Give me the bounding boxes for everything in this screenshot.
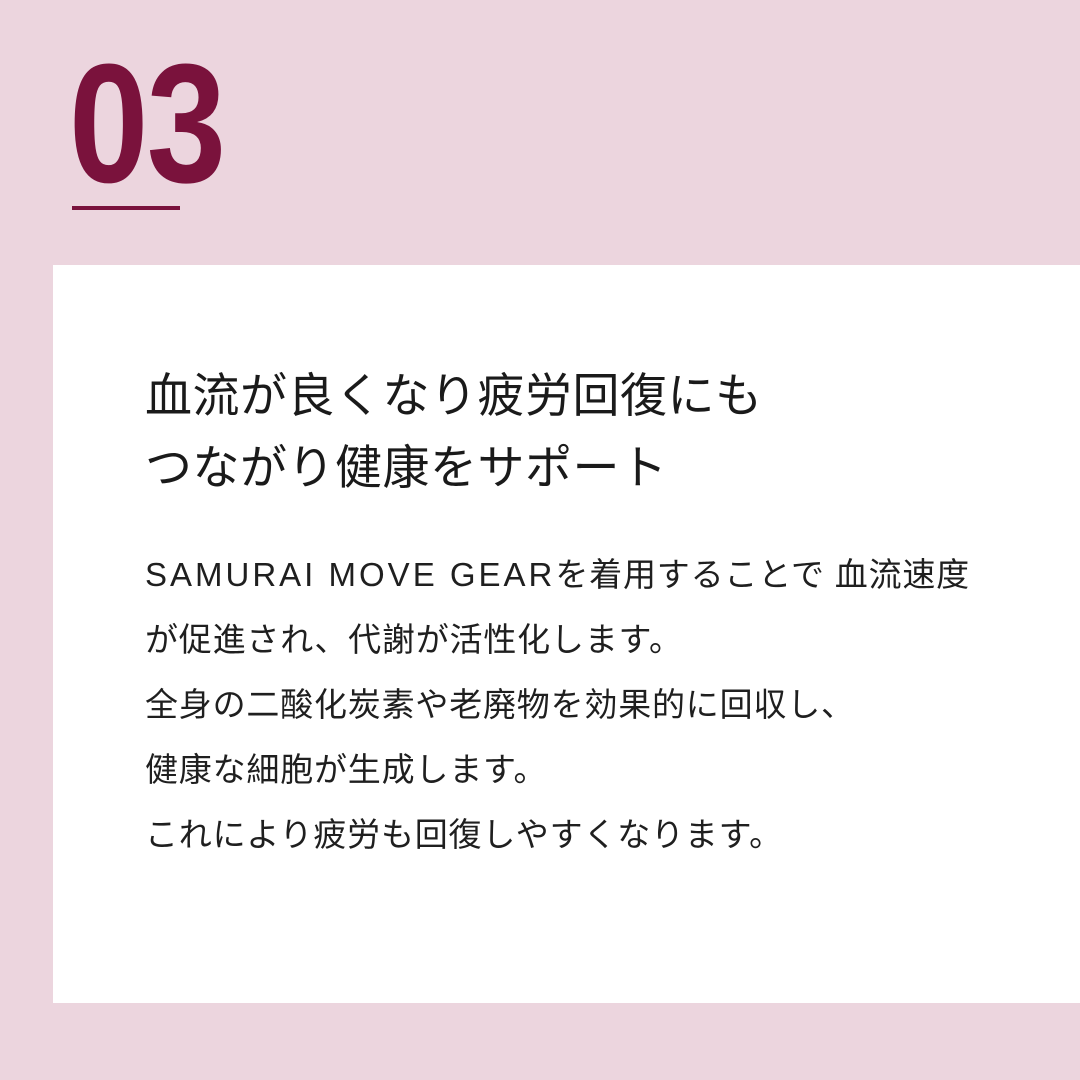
card-heading-line-1: 血流が良くなり疲労回復にも xyxy=(145,360,763,432)
card-body-line-1-rest: を着用することで 血流速度 xyxy=(555,556,970,593)
card-body-line-2: が促進され、代謝が活性化します。 xyxy=(145,607,970,672)
card-body-line-4: 健康な細胞が生成します。 xyxy=(145,737,970,802)
card-heading: 血流が良くなり疲労回復にも つながり健康をサポート xyxy=(145,360,763,504)
card-body-line-3: 全身の二酸化炭素や老廃物を効果的に回収し、 xyxy=(145,672,970,737)
slide-canvas: 03 血流が良くなり疲労回復にも つながり健康をサポート SAMURAI MOV… xyxy=(0,0,1080,1080)
brand-name: SAMURAI MOVE GEAR xyxy=(145,556,555,593)
card-body-text: SAMURAI MOVE GEARを着用することで 血流速度 が促進され、代謝が… xyxy=(145,542,970,867)
card-body-line-1: SAMURAI MOVE GEARを着用することで 血流速度 xyxy=(145,542,970,607)
section-number-block: 03 xyxy=(69,40,369,220)
card-body-line-5: これにより疲労も回復しやすくなります。 xyxy=(145,802,970,867)
section-number: 03 xyxy=(69,40,327,209)
content-card: 血流が良くなり疲労回復にも つながり健康をサポート SAMURAI MOVE G… xyxy=(53,265,1080,1003)
section-divider-rule xyxy=(72,206,180,210)
card-heading-line-2: つながり健康をサポート xyxy=(145,432,763,504)
